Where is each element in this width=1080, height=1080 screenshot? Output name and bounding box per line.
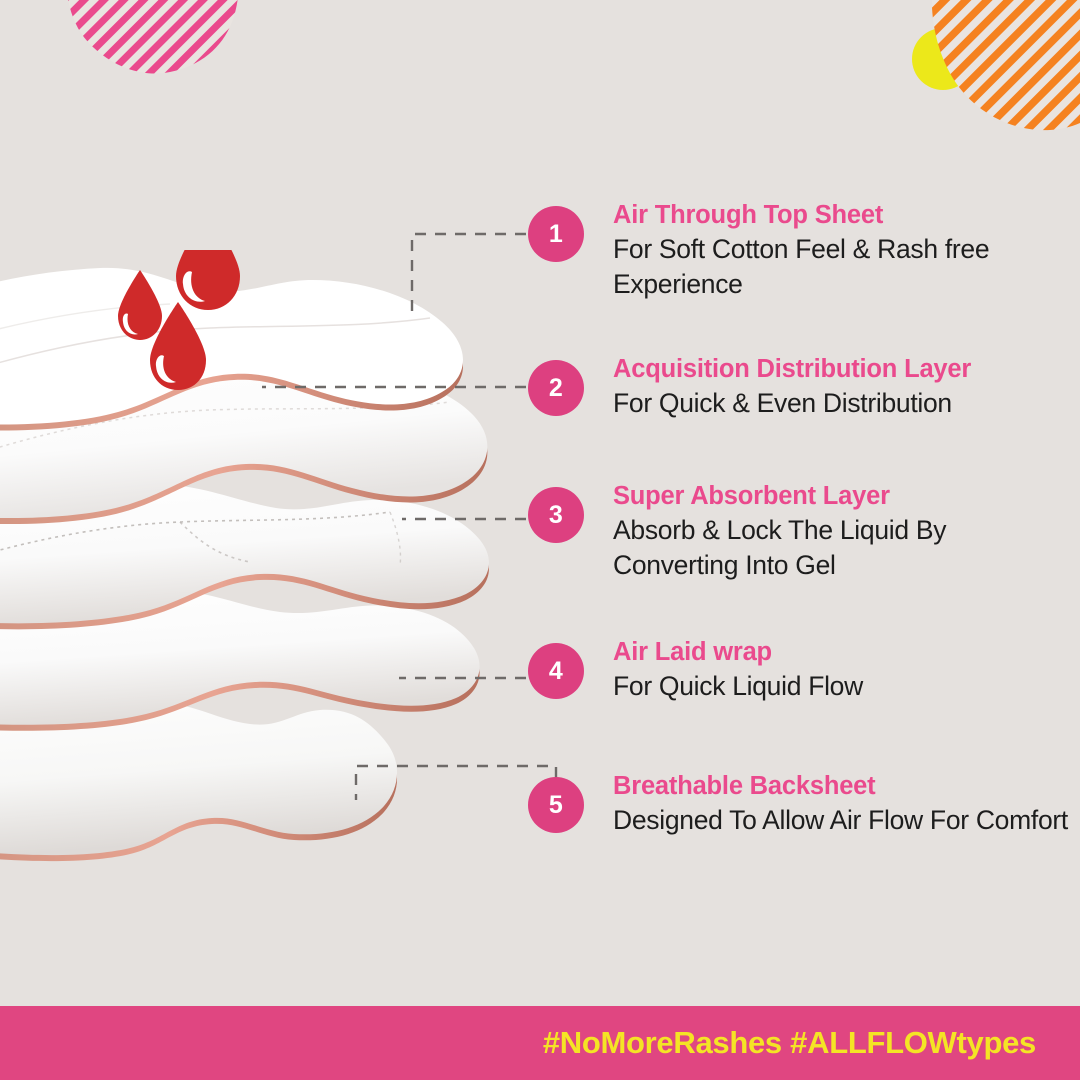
feature-description-2: For Quick & Even Distribution <box>613 386 1073 420</box>
feature-description-1: For Soft Cotton Feel & Rash free Experie… <box>613 232 1073 301</box>
feature-title-1: Air Through Top Sheet <box>613 200 1073 230</box>
feature-title-5: Breathable Backsheet <box>613 771 1073 801</box>
feature-title-4: Air Laid wrap <box>613 637 1073 667</box>
feature-description-4: For Quick Liquid Flow <box>613 669 1073 703</box>
footer-bar: #NoMoreRashes #ALLFLOWtypes <box>0 1006 1080 1080</box>
feature-title-3: Super Absorbent Layer <box>613 481 1073 511</box>
feature-badge-1: 1 <box>528 206 584 262</box>
footer-hashtags: #NoMoreRashes #ALLFLOWtypes <box>543 1025 1080 1061</box>
feature-badge-2: 2 <box>528 360 584 416</box>
feature-description-3: Absorb & Lock The Liquid By Converting I… <box>613 513 1073 582</box>
feature-badge-4: 4 <box>528 643 584 699</box>
feature-text-3: Super Absorbent Layer Absorb & Lock The … <box>613 481 1073 582</box>
feature-description-5: Designed To Allow Air Flow For Comfort <box>613 803 1073 837</box>
feature-text-1: Air Through Top Sheet For Soft Cotton Fe… <box>613 200 1073 301</box>
feature-text-2: Acquisition Distribution Layer For Quick… <box>613 354 1073 421</box>
infographic-canvas: 1 Air Through Top Sheet For Soft Cotton … <box>0 0 1080 1080</box>
feature-badge-5: 5 <box>528 777 584 833</box>
feature-text-4: Air Laid wrap For Quick Liquid Flow <box>613 637 1073 704</box>
feature-title-2: Acquisition Distribution Layer <box>613 354 1073 384</box>
feature-badge-3: 3 <box>528 487 584 543</box>
feature-text-5: Breathable Backsheet Designed To Allow A… <box>613 771 1073 838</box>
feature-list: 1 Air Through Top Sheet For Soft Cotton … <box>0 0 1080 1000</box>
